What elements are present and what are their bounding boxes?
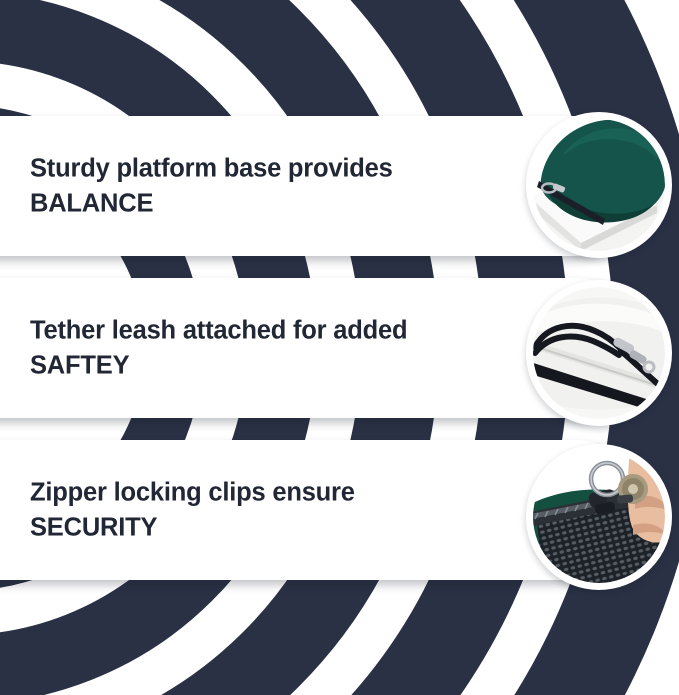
- feature-graphic-canvas: Sturdy platform base provides BALANCE Te…: [0, 0, 679, 695]
- feature-line1-security: Zipper locking clips ensure: [30, 478, 355, 506]
- feature-line1-balance: Sturdy platform base provides: [30, 154, 393, 182]
- zipper-clip-illustration: [533, 451, 665, 583]
- feature-text-security: Zipper locking clips ensure SECURITY: [30, 475, 500, 544]
- tether-leash-illustration: [533, 287, 665, 419]
- green-bag-on-platform-base-photo: [526, 112, 672, 258]
- feature-line2-balance: BALANCE: [30, 186, 500, 221]
- tether-leash-photo: [526, 280, 672, 426]
- feature-line2-saftey: SAFTEY: [30, 348, 500, 383]
- feature-text-saftey: Tether leash attached for added SAFTEY: [30, 313, 500, 382]
- feature-line2-security: SECURITY: [30, 510, 500, 545]
- feature-line1-saftey: Tether leash attached for added: [30, 316, 407, 344]
- green-bag-illustration: [533, 119, 665, 251]
- zipper-locking-clip-photo: [526, 444, 672, 590]
- feature-text-balance: Sturdy platform base provides BALANCE: [30, 151, 500, 220]
